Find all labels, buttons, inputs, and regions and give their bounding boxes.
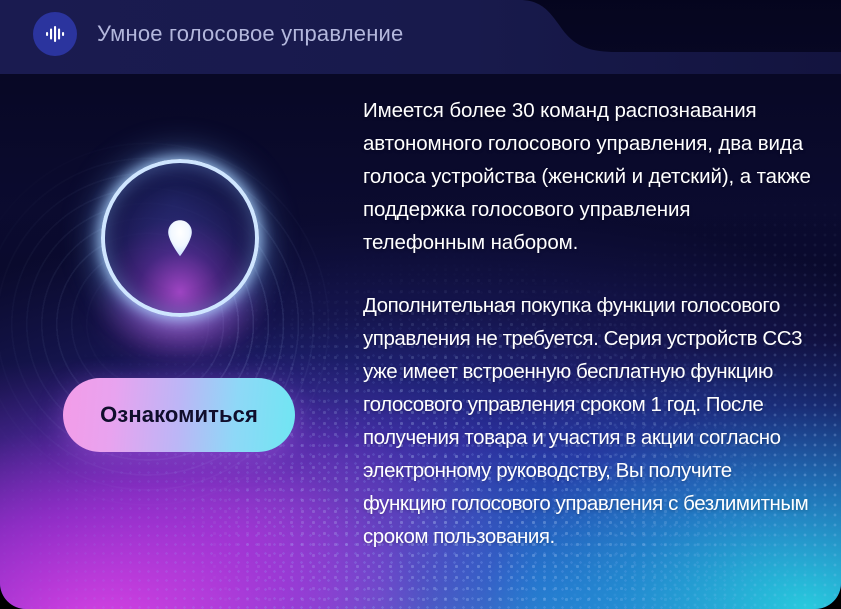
description-text-column: Имеется более 30 команд распознавания ав… bbox=[363, 94, 815, 553]
voice-control-promo-card: Умное голосовое управление Ознакомиться bbox=[0, 0, 841, 609]
header: Умное голосовое управление bbox=[0, 0, 403, 68]
left-column: Ознакомиться bbox=[0, 74, 352, 609]
page-title: Умное голосовое управление bbox=[97, 21, 403, 47]
voice-pin-icon bbox=[165, 217, 195, 257]
voice-waveform-icon bbox=[33, 12, 77, 56]
glowing-voice-orb bbox=[101, 159, 259, 317]
paragraph-2: Дополнительная покупка функции голосовог… bbox=[363, 289, 815, 553]
learn-more-button[interactable]: Ознакомиться bbox=[63, 378, 295, 452]
paragraph-1: Имеется более 30 команд распознавания ав… bbox=[363, 94, 815, 259]
